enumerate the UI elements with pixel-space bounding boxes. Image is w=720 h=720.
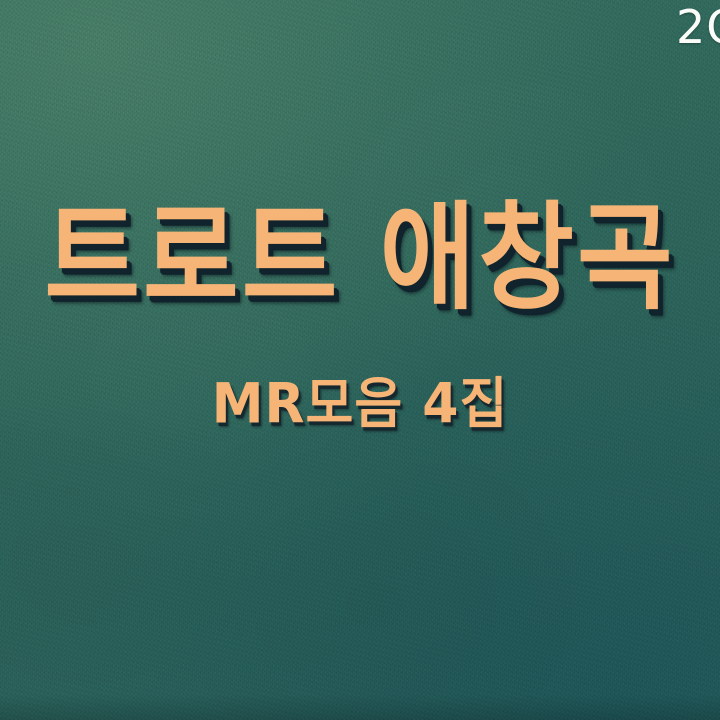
- paper-grain-fine: [0, 0, 720, 720]
- album-title: 트로트 애창곡: [44, 196, 675, 319]
- background-gradient: [0, 0, 720, 720]
- paper-grain-coarse: [0, 0, 720, 720]
- bottom-edge-shading: [0, 694, 720, 720]
- background-mottling: [0, 0, 720, 720]
- album-subtitle: MR모음 4집: [0, 376, 720, 434]
- album-cover: 2O 트로트 애창곡 MR모음 4집: [0, 0, 720, 720]
- title-block: 트로트 애창곡: [0, 196, 720, 306]
- year-stamp: 2O: [676, 4, 720, 50]
